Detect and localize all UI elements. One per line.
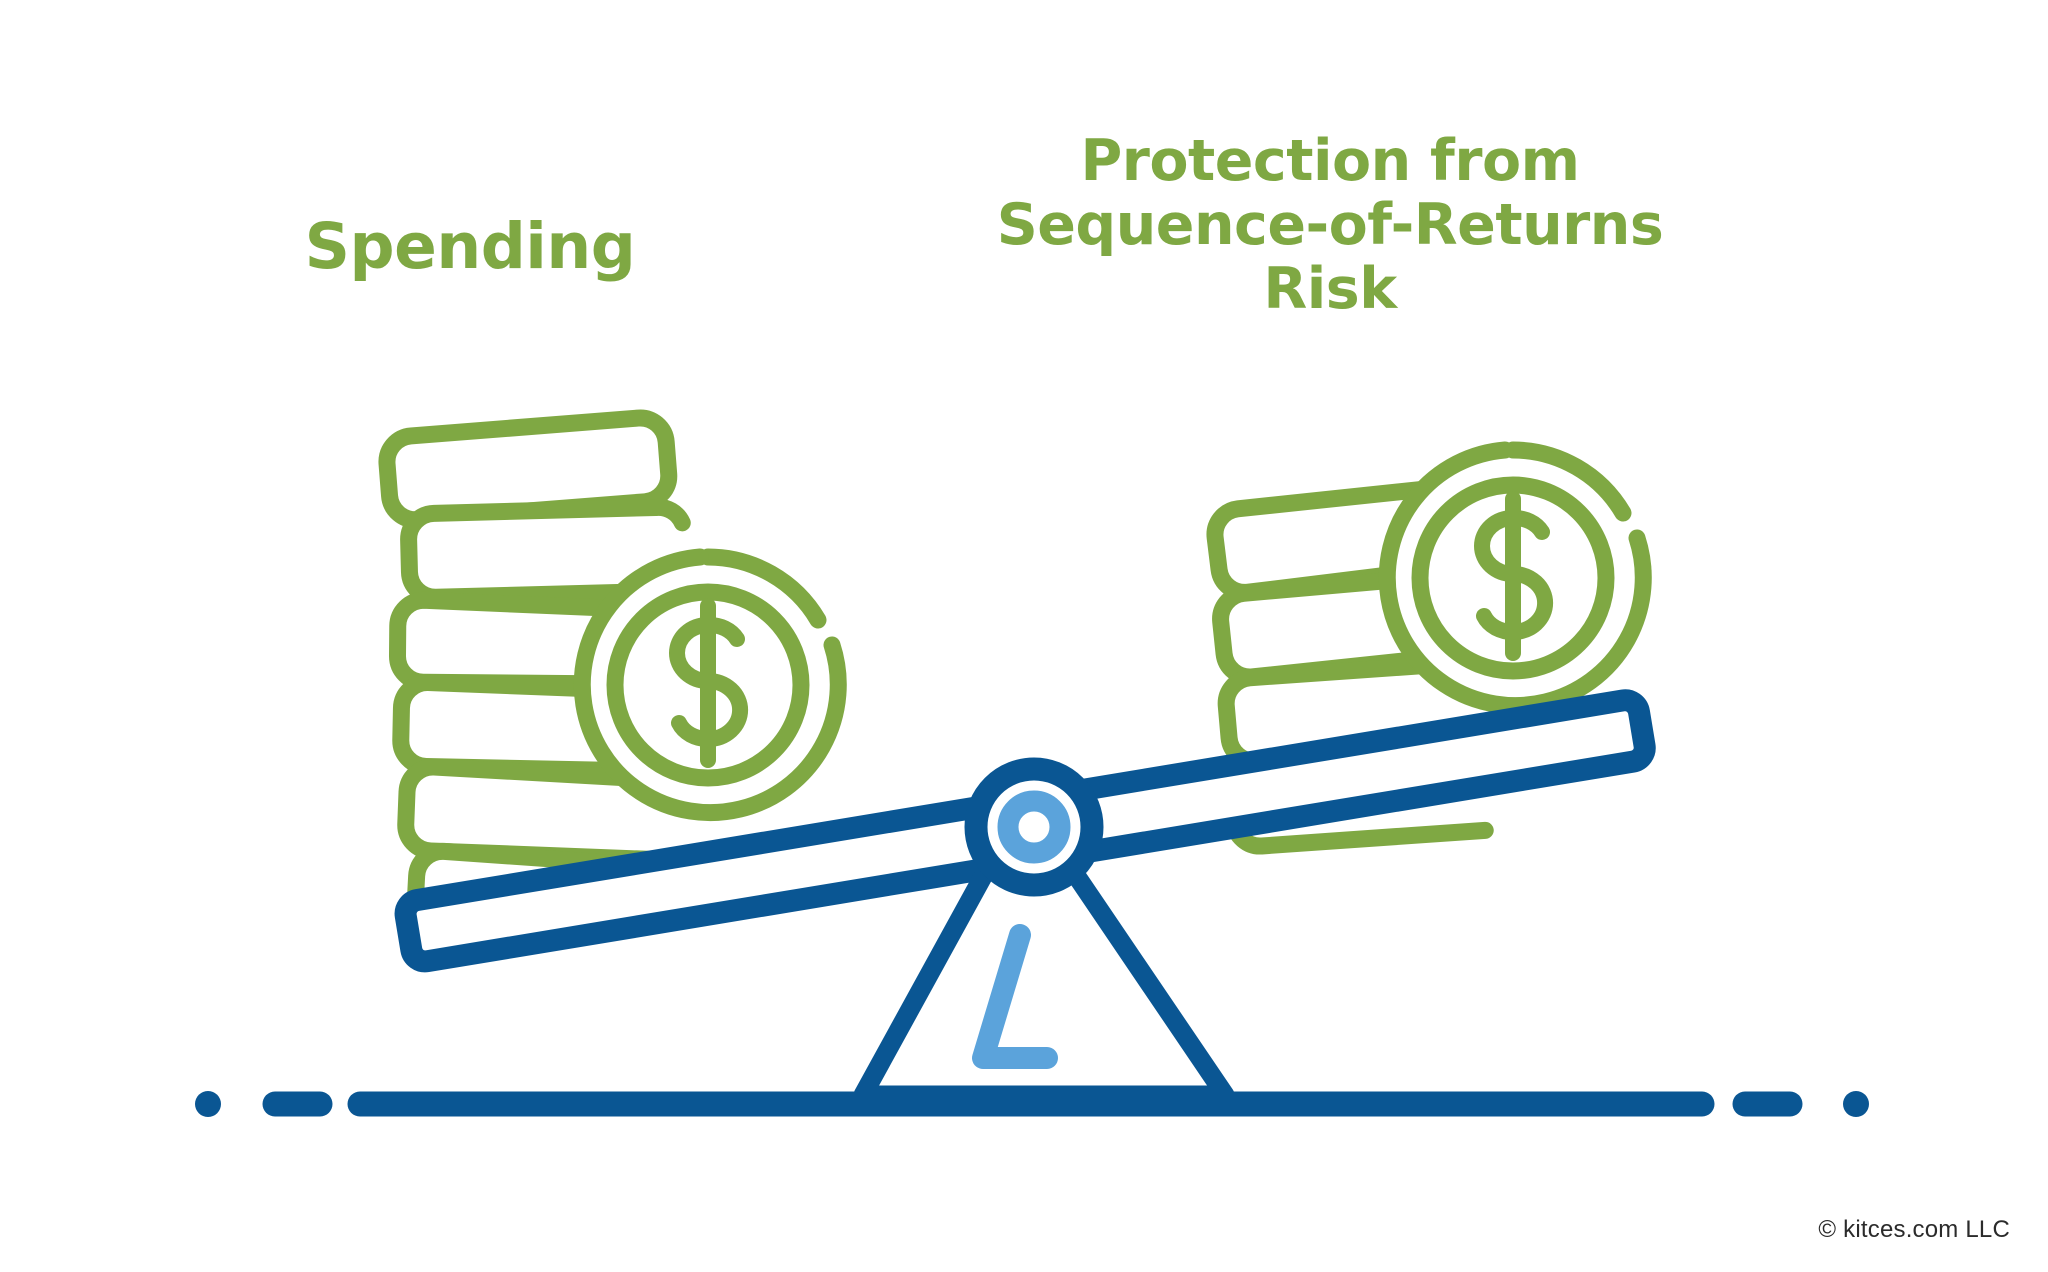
fulcrum-pivot <box>976 769 1092 885</box>
copyright-notice: © kitces.com LLC <box>1818 1216 2010 1244</box>
dollar-coin-left <box>580 557 838 813</box>
label-protection-line-2: Sequence-of-Returns <box>930 194 1730 258</box>
label-protection-line-3: Risk <box>930 258 1730 322</box>
dollar-sign-left <box>677 606 740 760</box>
label-protection-line-1: Protection from <box>930 130 1730 194</box>
label-protection-from-sequence-of-returns-risk: Protection from Sequence-of-Returns Risk <box>930 130 1730 321</box>
dollar-sign-right <box>1482 499 1545 653</box>
ground-line <box>195 1091 1869 1117</box>
dollar-coin-right <box>1385 450 1643 706</box>
label-spending: Spending <box>170 212 770 283</box>
illustration-canvas: Spending Protection from Sequence-of-Ret… <box>0 0 2048 1272</box>
